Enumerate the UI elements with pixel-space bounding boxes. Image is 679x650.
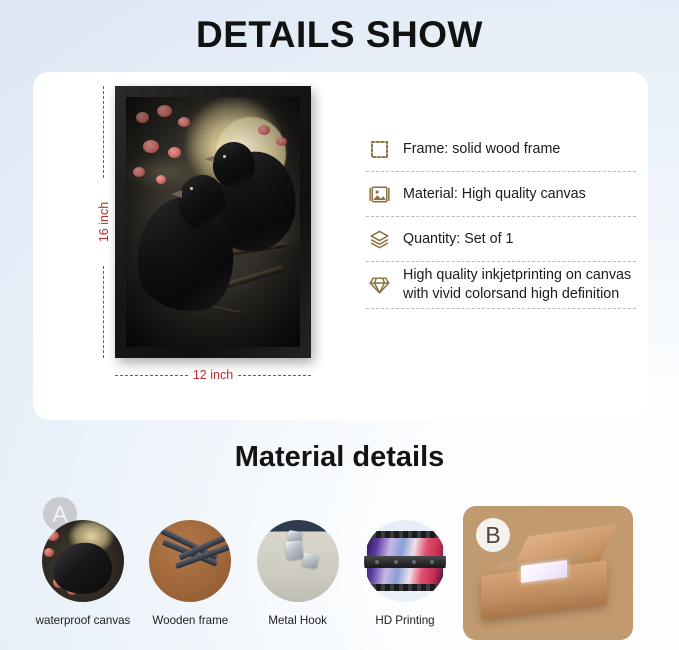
metal-hook-thumb bbox=[257, 520, 339, 602]
feature-label: Frame: solid wood frame bbox=[403, 140, 560, 159]
hook-second bbox=[301, 553, 318, 569]
wooden-frame-thumb bbox=[149, 520, 231, 602]
product-detail-infographic: DETAILS SHOW 16 inch bbox=[0, 0, 679, 650]
material-caption: waterproof canvas bbox=[36, 614, 131, 627]
layers-icon bbox=[366, 226, 392, 252]
width-dimension-line-right bbox=[238, 375, 311, 376]
height-dimension-label: 16 inch bbox=[95, 202, 113, 242]
material-section-title: Material details bbox=[0, 441, 679, 474]
printer-bar-top bbox=[367, 531, 442, 538]
material-item-canvas[interactable]: waterproof canvas bbox=[34, 520, 132, 627]
feature-row-frame: Frame: solid wood frame bbox=[366, 127, 636, 171]
diamond-icon bbox=[366, 272, 392, 298]
canvas-thumb bbox=[42, 520, 124, 602]
hd-printing-thumb bbox=[364, 520, 446, 602]
width-dimension-label: 12 inch bbox=[193, 368, 233, 382]
printer-bar-bottom bbox=[367, 584, 442, 591]
badge-b: B bbox=[476, 518, 510, 552]
width-dimension-line-left bbox=[115, 375, 188, 376]
feature-list: Frame: solid wood frame Material: High q… bbox=[366, 127, 636, 309]
framed-artwork-block: 16 inch bbox=[80, 80, 324, 370]
material-caption: Metal Hook bbox=[268, 614, 327, 627]
feature-label: High quality inkjetprinting on canvas wi… bbox=[403, 266, 636, 304]
feature-row-printing: High quality inkjetprinting on canvas wi… bbox=[366, 262, 636, 308]
image-icon bbox=[366, 181, 392, 207]
page-title: DETAILS SHOW bbox=[0, 14, 679, 56]
feature-divider bbox=[366, 308, 636, 309]
height-dimension-line-bottom bbox=[103, 266, 104, 358]
material-caption: HD Printing bbox=[375, 614, 434, 627]
feature-row-material: Material: High quality canvas bbox=[366, 172, 636, 216]
height-dimension: 16 inch bbox=[93, 86, 115, 358]
material-caption: Wooden frame bbox=[152, 614, 228, 627]
blossom bbox=[44, 548, 54, 557]
packaging-card: B bbox=[463, 506, 633, 640]
feature-label: Quantity: Set of 1 bbox=[403, 230, 513, 249]
material-item-hd-printing[interactable]: HD Printing bbox=[356, 520, 454, 627]
material-thumbnail-row: waterproof canvas Wooden frame Metal Hoo… bbox=[34, 520, 454, 627]
picture-frame bbox=[115, 86, 311, 358]
height-dimension-line-top bbox=[103, 86, 104, 178]
hook-body bbox=[285, 541, 303, 561]
frame-icon bbox=[366, 136, 392, 162]
details-card: 16 inch bbox=[33, 72, 648, 420]
feature-row-quantity: Quantity: Set of 1 bbox=[366, 217, 636, 261]
artwork-vignette bbox=[126, 97, 300, 347]
width-dimension: 12 inch bbox=[115, 368, 311, 382]
canvas-artwork bbox=[126, 97, 300, 347]
raven-silhouette bbox=[51, 540, 115, 597]
material-item-metal-hook[interactable]: Metal Hook bbox=[249, 520, 347, 627]
feature-label: Material: High quality canvas bbox=[403, 185, 586, 204]
material-item-wooden-frame[interactable]: Wooden frame bbox=[141, 520, 239, 627]
blossom bbox=[47, 531, 59, 541]
printer-head-rail bbox=[364, 556, 446, 568]
